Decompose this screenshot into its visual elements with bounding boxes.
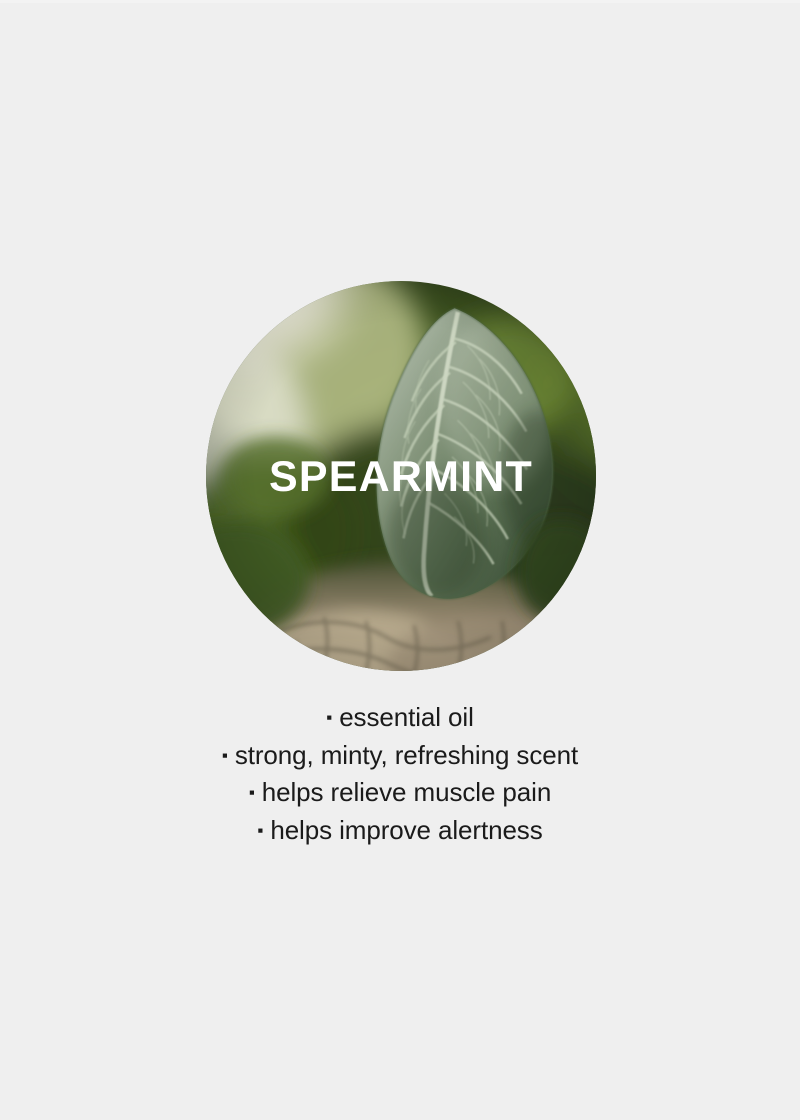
square-bullet-icon: ▪	[249, 783, 262, 802]
benefits-list: ▪essential oil ▪strong, minty, refreshin…	[0, 699, 800, 849]
benefit-label: essential oil	[339, 702, 474, 732]
benefit-item: ▪strong, minty, refreshing scent	[0, 737, 800, 775]
spearmint-photo-circle: SPEARMINT	[206, 281, 596, 671]
benefit-item: ▪helps relieve muscle pain	[0, 774, 800, 812]
top-edge-strip	[0, 0, 800, 3]
benefit-label: strong, minty, refreshing scent	[235, 740, 578, 770]
square-bullet-icon: ▪	[257, 821, 270, 840]
square-bullet-icon: ▪	[222, 746, 235, 765]
benefit-label: helps relieve muscle pain	[262, 777, 551, 807]
page-background: SPEARMINT ▪essential oil ▪strong, minty,…	[0, 0, 800, 1120]
square-bullet-icon: ▪	[326, 708, 339, 727]
benefit-label: helps improve alertness	[270, 815, 542, 845]
hero-title: SPEARMINT	[206, 281, 596, 671]
benefit-item: ▪essential oil	[0, 699, 800, 737]
benefit-item: ▪helps improve alertness	[0, 812, 800, 850]
